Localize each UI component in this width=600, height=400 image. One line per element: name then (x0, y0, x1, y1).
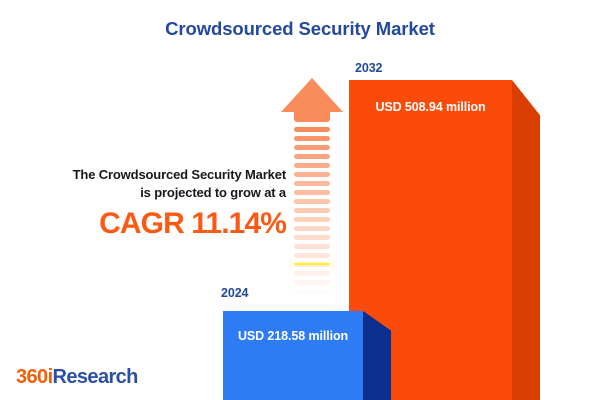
cagr-value: CAGR 11.14% (14, 207, 286, 241)
arrow-rung (294, 280, 330, 285)
arrow-rung (294, 226, 330, 231)
logo-mark-text: 360i (16, 366, 53, 388)
logo-word-text: Research (53, 366, 138, 388)
arrow-rung (294, 253, 330, 258)
arrow-rung (294, 181, 330, 186)
bar-label-2024: 2024 (221, 286, 248, 300)
arrow-rung (294, 145, 330, 150)
arrow-highlight-line (294, 263, 330, 265)
arrow-rung (294, 199, 330, 204)
bar-label-2032: 2032 (355, 61, 382, 75)
arrow-head-shape (281, 78, 343, 112)
arrow-rung (294, 163, 330, 168)
arrow-neck-shape (294, 110, 330, 122)
arrow-rung (294, 208, 330, 213)
infographic-canvas: Crowdsourced Security Market The Crowdso… (0, 0, 600, 400)
arrow-rung (294, 217, 330, 222)
arrow-rung (294, 235, 330, 240)
arrow-rung (294, 172, 330, 177)
arrow-rung (294, 289, 330, 294)
statement-line-1: The Crowdsourced Security Market (14, 166, 286, 184)
arrow-rung (294, 190, 330, 195)
arrow-rung (294, 271, 330, 276)
arrow-rung (294, 136, 330, 141)
growth-statement: The Crowdsourced Security Market is proj… (14, 166, 286, 241)
bar-2024: USD 218.58 million (223, 311, 363, 400)
brand-logo: 360iResearch (16, 366, 138, 389)
growth-arrow-icon (281, 78, 343, 294)
arrow-rung (294, 154, 330, 159)
arrow-rung (294, 127, 330, 132)
statement-line-2: is projected to grow at a (14, 184, 286, 202)
bar-2032-side-face (512, 80, 540, 400)
page-title: Crowdsourced Security Market (0, 18, 600, 40)
bar-2024-value-label: USD 218.58 million (223, 311, 363, 400)
arrow-gradient-rungs (294, 127, 330, 294)
arrow-rung (294, 244, 330, 249)
